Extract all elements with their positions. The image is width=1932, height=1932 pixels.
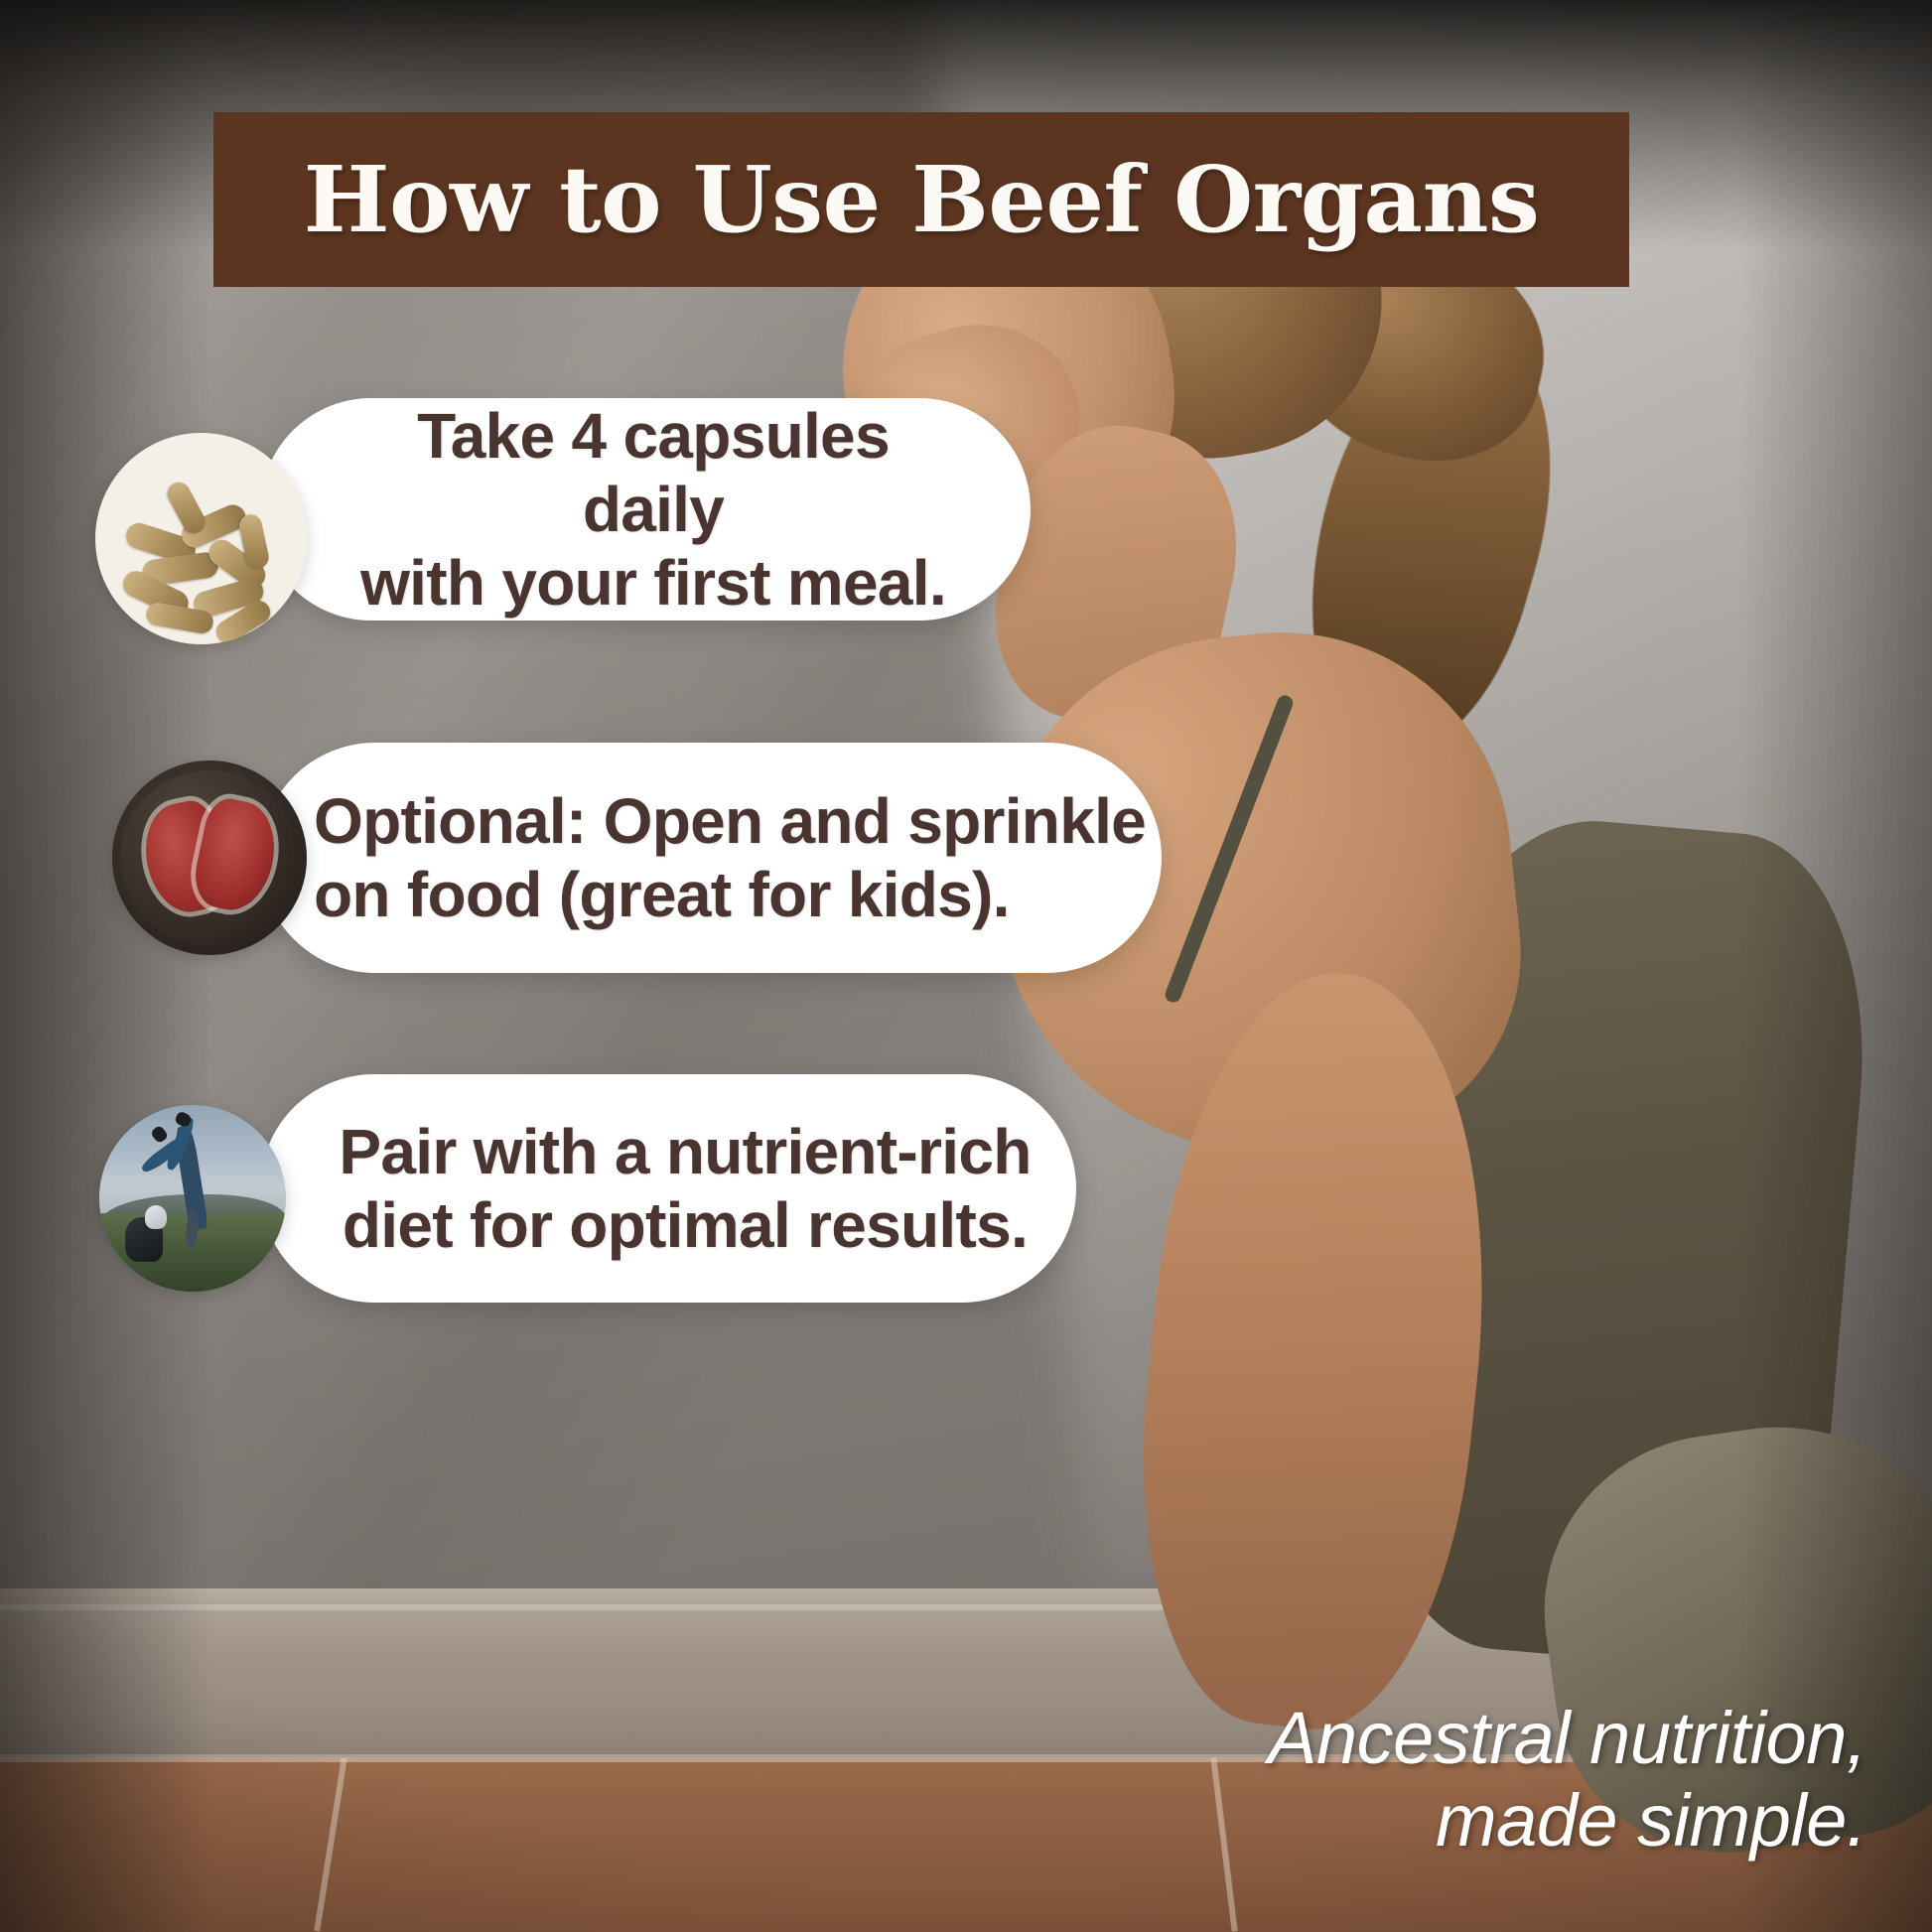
capsules-thumbnail bbox=[95, 433, 307, 644]
capsules-image bbox=[95, 433, 307, 644]
step-card: Take 4 capsules daily with your first me… bbox=[260, 398, 1031, 621]
step-text: Pair with a nutrient-rich diet for optim… bbox=[338, 1115, 1033, 1262]
step-card: Optional: Open and sprinkle on food (gre… bbox=[260, 743, 1162, 973]
steak-thumbnail bbox=[112, 760, 307, 955]
tagline: Ancestral nutrition, made simple. bbox=[1268, 1697, 1866, 1863]
heart-steaks-image bbox=[112, 760, 307, 955]
step-text: Optional: Open and sprinkle on food (gre… bbox=[314, 784, 1146, 931]
handstand-thumbnail bbox=[99, 1105, 286, 1292]
infographic-poster: How to Use Beef Organs Take 4 capsules d… bbox=[0, 0, 1932, 1932]
dog bbox=[125, 1217, 163, 1262]
steps-list: Take 4 capsules daily with your first me… bbox=[0, 0, 1932, 1932]
step-text: Take 4 capsules daily with your first me… bbox=[345, 399, 961, 621]
handstand-image bbox=[99, 1105, 286, 1292]
step-card: Pair with a nutrient-rich diet for optim… bbox=[260, 1074, 1076, 1303]
